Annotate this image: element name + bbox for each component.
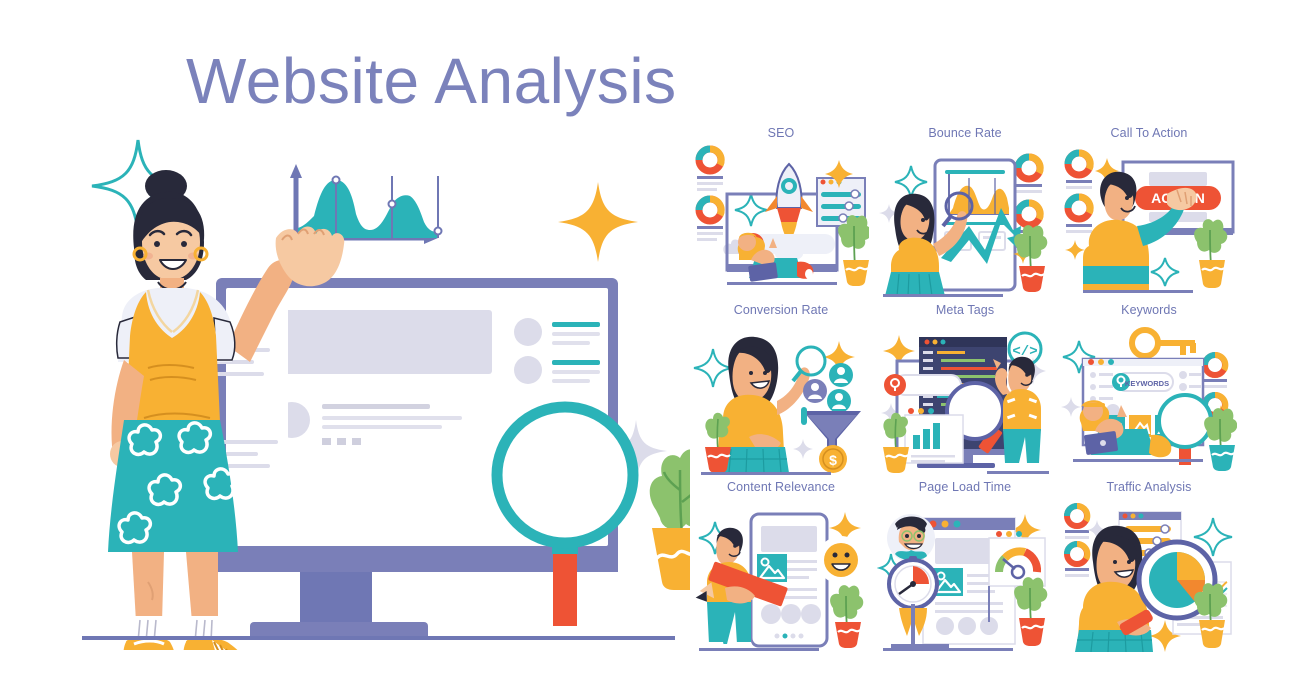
sparkle-icon xyxy=(1061,397,1081,417)
potted-plant xyxy=(830,585,863,648)
sparkle-icon xyxy=(735,194,767,226)
potted-plant xyxy=(1014,225,1047,292)
tile-label-seo: SEO xyxy=(693,126,869,140)
bar-chart-card xyxy=(905,408,963,463)
tile-content-relevance[interactable]: Content Relevance xyxy=(693,480,869,657)
illustration-canvas: Website Analysis xyxy=(0,0,1311,700)
tile-traffic-analysis[interactable]: Traffic Analysis xyxy=(1061,480,1237,657)
sparkle-icon xyxy=(1065,240,1085,260)
tile-art-page-load-time xyxy=(877,496,1053,656)
donut-chart-icon xyxy=(1066,197,1092,233)
sparkle-icon xyxy=(694,349,732,387)
image-tile-yellow xyxy=(418,596,476,650)
tile-art-traffic-analysis xyxy=(1061,496,1237,656)
donut-chart-icon xyxy=(1016,157,1042,193)
keywords-search-label: KEYWORDS xyxy=(1125,379,1169,388)
tile-label-keywords: Keywords xyxy=(1061,303,1237,317)
potted-plant xyxy=(838,215,869,286)
sparkle-yellow-icon xyxy=(558,182,638,262)
sparkle-icon xyxy=(895,166,927,198)
tile-page-load-time[interactable]: Page Load Time xyxy=(877,480,1053,657)
tile-call-to-action[interactable]: Call To Action xyxy=(1061,126,1237,303)
tile-art-keywords: KEYWORDS xyxy=(1061,319,1237,479)
tile-keywords[interactable]: Keywords xyxy=(1061,303,1237,480)
tile-seo[interactable]: SEO xyxy=(693,126,869,303)
user-avatar-icons xyxy=(803,363,853,413)
tile-art-seo xyxy=(693,142,869,302)
potted-plant xyxy=(1014,577,1047,646)
tile-conversion-rate[interactable]: Conversion Rate xyxy=(693,303,869,480)
user-avatar xyxy=(803,379,827,403)
potted-plant xyxy=(1204,408,1237,471)
image-placeholder-icon xyxy=(757,554,787,582)
sparkle-icon xyxy=(1151,258,1179,286)
donut-chart-icon xyxy=(697,199,723,241)
hero-potted-plant xyxy=(650,449,690,590)
coin-symbol: $ xyxy=(829,452,837,468)
tile-art-bounce-rate xyxy=(877,142,1053,302)
tile-art-content-relevance xyxy=(693,496,869,656)
tile-art-call-to-action: ACTION xyxy=(1061,142,1237,302)
donut-chart-icon xyxy=(697,149,723,191)
avatar xyxy=(887,514,935,562)
user-avatar xyxy=(827,389,851,413)
keywords-search-field[interactable]: KEYWORDS xyxy=(1112,373,1173,391)
hero-illustration xyxy=(60,130,690,650)
donut-chart-icon xyxy=(1203,355,1227,388)
tile-bounce-rate[interactable]: Bounce Rate xyxy=(877,126,1053,303)
donut-chart-icon xyxy=(1065,544,1089,577)
topic-tile-grid: SEO xyxy=(693,126,1245,656)
search-badge xyxy=(884,374,961,396)
hero-magnifier-icon xyxy=(497,407,633,626)
tile-label-content-relevance: Content Relevance xyxy=(693,480,869,494)
donut-chart-icon xyxy=(1065,506,1089,539)
tile-label-call-to-action: Call To Action xyxy=(1061,126,1237,140)
tile-label-meta-tags: Meta Tags xyxy=(877,303,1053,317)
donut-chart-icon xyxy=(1066,153,1092,189)
tile-art-conversion-rate: $ xyxy=(693,319,869,479)
user-avatar xyxy=(829,363,853,387)
page-title: Website Analysis xyxy=(186,46,677,116)
tile-label-bounce-rate: Bounce Rate xyxy=(877,126,1053,140)
image-tile-purple xyxy=(498,596,556,650)
tile-label-conversion-rate: Conversion Rate xyxy=(693,303,869,317)
tile-meta-tags[interactable]: Meta Tags xyxy=(877,303,1053,480)
tile-label-page-load-time: Page Load Time xyxy=(877,480,1053,494)
key-icon xyxy=(1132,330,1195,356)
tile-label-traffic-analysis: Traffic Analysis xyxy=(1061,480,1237,494)
dollar-coin-icon: $ xyxy=(819,445,847,473)
phone-mockup xyxy=(935,160,1015,290)
potted-plant xyxy=(1194,219,1227,288)
tile-art-meta-tags: </> xyxy=(877,319,1053,479)
sparkle-icon xyxy=(793,439,813,459)
